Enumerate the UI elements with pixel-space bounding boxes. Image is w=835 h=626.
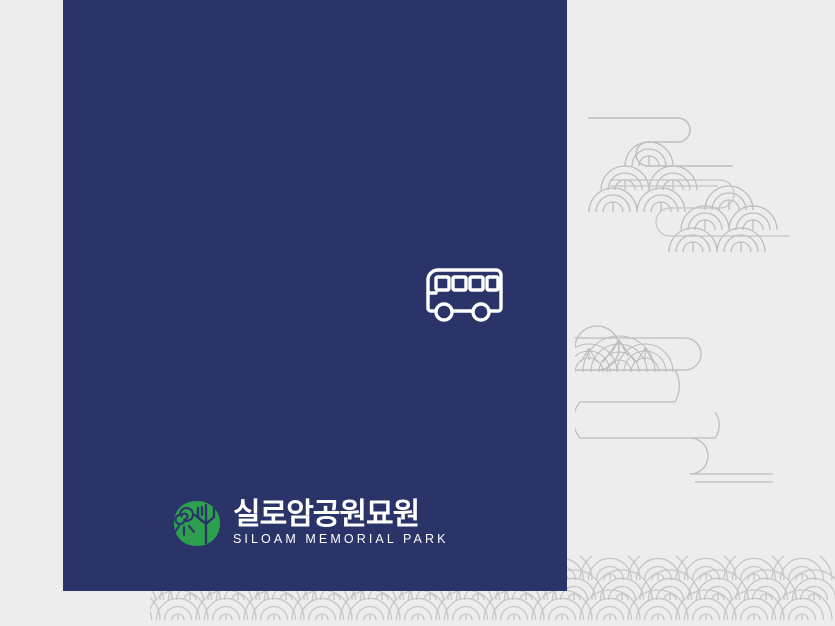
logo-name-english: SILOAM MEMORIAL PARK: [233, 531, 449, 547]
logo-text: 실로암공원묘원 SILOAM MEMORIAL PARK: [233, 499, 449, 547]
logo: 실로암공원묘원 SILOAM MEMORIAL PARK: [170, 497, 449, 549]
logo-name-korean: 실로암공원묘원: [233, 499, 449, 531]
tree-spiral-emblem-icon: [170, 497, 224, 549]
bus-icon: [416, 263, 511, 328]
poster-canvas: 추석 연휴 마을버스 운행안내 ◆ 운행일 : 25/10/5 (일) ~ 25…: [0, 0, 835, 626]
korean-cloud-motif-icon-secondary: [575, 300, 835, 500]
